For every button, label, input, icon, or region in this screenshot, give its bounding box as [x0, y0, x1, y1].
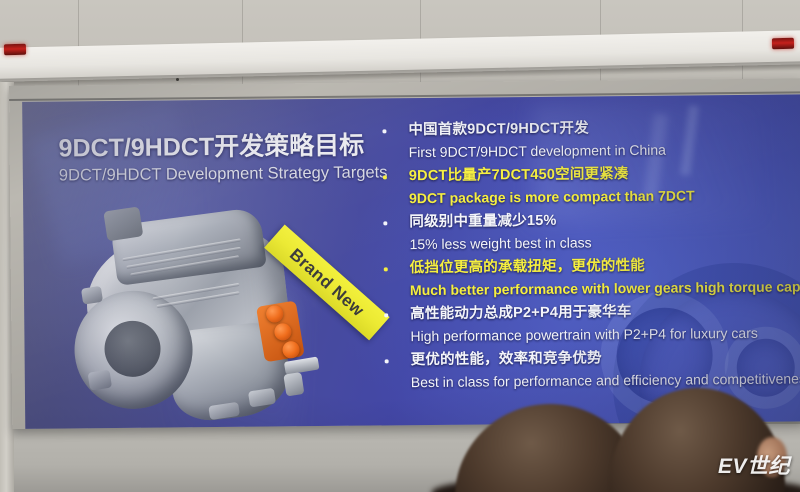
- watermark-logo: EV世纪: [718, 450, 790, 480]
- screen-clip: 9DCT/9HDCT开发策略目标 9DCT/9HDCT Development …: [9, 78, 800, 429]
- presentation-slide: 9DCT/9HDCT开发策略目标 9DCT/9HDCT Development …: [22, 94, 800, 429]
- wall-speck: [176, 78, 179, 81]
- red-indicator-light-left: [4, 44, 26, 55]
- red-indicator-light-right: [772, 38, 794, 49]
- screen-glare: [22, 94, 800, 429]
- photo-scene: 9DCT/9HDCT开发策略目标 9DCT/9HDCT Development …: [0, 0, 800, 492]
